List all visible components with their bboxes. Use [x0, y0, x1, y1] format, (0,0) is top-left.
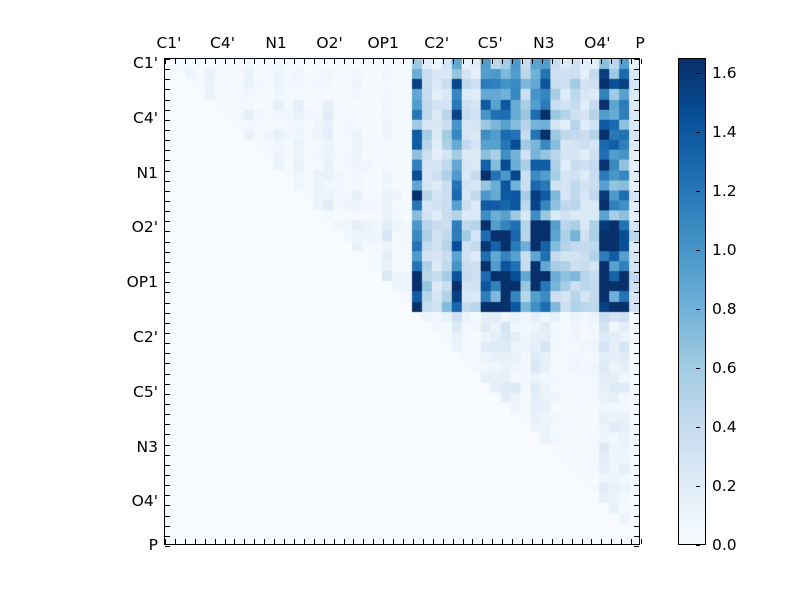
- colorbar-tick: [696, 73, 700, 74]
- axis-tick: [634, 353, 639, 354]
- axis-tick: [522, 59, 523, 64]
- axis-tick: [631, 539, 632, 544]
- axis-tick: [591, 539, 592, 544]
- axis-tick: [413, 59, 414, 64]
- colorbar-tick: [696, 132, 700, 133]
- axis-tick: [353, 539, 354, 544]
- colorbar-body: [678, 58, 706, 545]
- colorbar-tick: [696, 486, 700, 487]
- axis-tick: [634, 89, 639, 90]
- axis-tick: [634, 414, 639, 415]
- axis-tick: [324, 539, 325, 544]
- axis-tick: [225, 59, 226, 64]
- axis-tick: [314, 59, 315, 64]
- axis-tick: [264, 59, 265, 64]
- axis-tick: [634, 374, 639, 375]
- colorbar-tick-label-2: 0.4: [712, 418, 737, 436]
- axis-tick: [443, 539, 444, 544]
- colorbar-tick: [696, 545, 700, 546]
- axis-tick: [601, 539, 602, 544]
- axis-tick: [443, 59, 444, 64]
- colorbar-tick: [696, 368, 700, 369]
- axis-tick: [274, 539, 275, 544]
- axis-tick: [373, 539, 374, 544]
- axis-tick: [572, 539, 573, 544]
- axis-tick: [634, 343, 639, 344]
- axis-tick: [215, 539, 216, 544]
- axis-tick: [205, 539, 206, 544]
- axis-tick: [634, 394, 639, 395]
- axis-tick: [634, 495, 639, 496]
- axis-tick: [634, 526, 639, 527]
- y-tick-label-0: C1': [133, 54, 158, 72]
- y-tick-label-7: N3: [137, 438, 158, 456]
- heatmap-canvas: [165, 59, 639, 544]
- axis-tick: [165, 495, 170, 496]
- axis-tick: [165, 221, 170, 222]
- axis-tick: [165, 89, 170, 90]
- axis-tick: [304, 539, 305, 544]
- axis-tick: [165, 465, 170, 466]
- axis-tick: [634, 404, 639, 405]
- axis-tick: [482, 59, 483, 64]
- axis-tick: [373, 59, 374, 64]
- axis-tick: [512, 539, 513, 544]
- axis-tick: [634, 465, 639, 466]
- axis-tick: [314, 539, 315, 544]
- colorbar-tick: [696, 427, 700, 428]
- axis-tick: [631, 59, 632, 64]
- axis-tick: [195, 59, 196, 64]
- axis-tick: [634, 171, 639, 172]
- axis-tick: [165, 262, 170, 263]
- axis-tick: [634, 150, 639, 151]
- axis-tick: [634, 69, 639, 70]
- axis-tick: [165, 445, 170, 446]
- axis-tick: [165, 181, 170, 182]
- axis-tick: [165, 536, 170, 537]
- axis-tick: [225, 539, 226, 544]
- axis-tick: [165, 211, 170, 212]
- axis-tick: [634, 100, 639, 101]
- axis-tick: [634, 140, 639, 141]
- axis-tick: [634, 272, 639, 273]
- axis-tick: [353, 59, 354, 64]
- y-axis-labels: C1'C4'N1O2'OP1C2'C5'N3O4'P: [96, 0, 158, 600]
- axis-tick: [165, 313, 170, 314]
- y-tick-label-4: OP1: [127, 273, 158, 291]
- axis-tick: [165, 363, 170, 364]
- axis-tick: [634, 516, 639, 517]
- axis-tick: [165, 150, 170, 151]
- axis-tick: [634, 120, 639, 121]
- axis-tick: [254, 539, 255, 544]
- axis-tick: [165, 110, 170, 111]
- axis-tick: [634, 292, 639, 293]
- axis-tick: [334, 59, 335, 64]
- axis-tick: [463, 59, 464, 64]
- y-tick-label-8: O4': [132, 492, 158, 510]
- colorbar-tick: [696, 309, 700, 310]
- axis-tick: [562, 539, 563, 544]
- axis-tick: [634, 313, 639, 314]
- colorbar-tick-label-0: 0.0: [712, 536, 737, 554]
- axis-tick: [254, 59, 255, 64]
- axis-tick: [165, 201, 170, 202]
- axis-tick: [165, 343, 170, 344]
- axis-tick: [634, 201, 639, 202]
- axis-tick: [542, 59, 543, 64]
- axis-tick: [492, 539, 493, 544]
- axis-tick: [423, 59, 424, 64]
- axis-tick: [165, 516, 170, 517]
- axis-tick: [472, 539, 473, 544]
- axis-tick: [165, 424, 170, 425]
- axis-tick: [532, 59, 533, 64]
- axis-tick: [634, 181, 639, 182]
- axis-tick: [244, 539, 245, 544]
- axis-tick: [463, 539, 464, 544]
- x-tick-label-6: C5': [478, 34, 503, 52]
- axis-tick: [492, 59, 493, 64]
- x-tick-label-1: C4': [210, 34, 235, 52]
- axis-tick: [453, 539, 454, 544]
- axis-tick: [165, 546, 170, 547]
- axis-tick: [165, 130, 170, 131]
- axis-tick: [634, 160, 639, 161]
- axis-tick: [165, 140, 170, 141]
- axis-tick: [165, 79, 170, 80]
- axis-tick: [165, 384, 170, 385]
- axis-tick: [634, 424, 639, 425]
- heatmap-figure: C1'C4'N1O2'OP1C2'C5'N3O4'P C1'C4'N1O2'OP…: [0, 0, 800, 600]
- axis-tick: [634, 333, 639, 334]
- axis-tick: [185, 59, 186, 64]
- axis-tick: [562, 59, 563, 64]
- axis-tick: [264, 539, 265, 544]
- axis-tick: [165, 303, 170, 304]
- axis-tick: [634, 242, 639, 243]
- axis-tick: [621, 59, 622, 64]
- axis-tick: [185, 539, 186, 544]
- colorbar-gradient: [679, 59, 705, 544]
- axis-tick: [324, 59, 325, 64]
- axis-tick: [165, 539, 166, 544]
- axis-tick: [634, 191, 639, 192]
- axis-tick: [634, 79, 639, 80]
- x-tick-label-3: O2': [316, 34, 342, 52]
- axis-tick: [165, 475, 170, 476]
- axis-tick: [634, 323, 639, 324]
- colorbar-tick-label-1: 0.2: [712, 477, 737, 495]
- axis-tick: [165, 414, 170, 415]
- axis-tick: [165, 272, 170, 273]
- axis-tick: [572, 59, 573, 64]
- x-tick-label-9: P: [635, 34, 644, 52]
- axis-tick: [512, 59, 513, 64]
- axis-tick: [165, 323, 170, 324]
- axis-tick: [634, 262, 639, 263]
- axis-tick: [363, 59, 364, 64]
- axis-tick: [165, 434, 170, 435]
- colorbar-tick-label-8: 1.6: [712, 64, 737, 82]
- heatmap-plot-area[interactable]: [164, 58, 640, 545]
- colorbar-tick-label-3: 0.6: [712, 359, 737, 377]
- axis-tick: [634, 505, 639, 506]
- axis-tick: [403, 539, 404, 544]
- axis-tick: [433, 539, 434, 544]
- axis-tick: [165, 485, 170, 486]
- axis-tick: [393, 539, 394, 544]
- axis-tick: [294, 539, 295, 544]
- y-tick-label-2: N1: [137, 164, 158, 182]
- axis-tick: [244, 59, 245, 64]
- axis-tick: [634, 363, 639, 364]
- axis-tick: [175, 59, 176, 64]
- axis-tick: [634, 445, 639, 446]
- axis-tick: [502, 539, 503, 544]
- axis-tick: [413, 539, 414, 544]
- axis-tick: [552, 539, 553, 544]
- axis-tick: [641, 59, 642, 64]
- axis-tick: [383, 539, 384, 544]
- axis-tick: [175, 539, 176, 544]
- axis-tick: [472, 59, 473, 64]
- axis-tick: [274, 59, 275, 64]
- axis-tick: [552, 59, 553, 64]
- axis-tick: [165, 59, 170, 60]
- x-tick-label-8: O4': [584, 34, 610, 52]
- axis-tick: [634, 475, 639, 476]
- y-tick-label-1: C4': [133, 109, 158, 127]
- axis-tick: [522, 539, 523, 544]
- x-tick-label-5: C2': [424, 34, 449, 52]
- axis-tick: [423, 539, 424, 544]
- axis-tick: [165, 100, 170, 101]
- colorbar-tick-label-7: 1.4: [712, 123, 737, 141]
- axis-tick: [641, 539, 642, 544]
- colorbar-tick-label-5: 1.0: [712, 241, 737, 259]
- axis-tick: [634, 252, 639, 253]
- axis-tick: [165, 505, 170, 506]
- y-tick-label-9: P: [149, 536, 158, 554]
- axis-tick: [502, 59, 503, 64]
- axis-tick: [284, 59, 285, 64]
- axis-tick: [304, 59, 305, 64]
- axis-tick: [621, 539, 622, 544]
- axis-tick: [165, 191, 170, 192]
- y-tick-label-6: C5': [133, 383, 158, 401]
- axis-tick: [363, 539, 364, 544]
- axis-tick: [344, 539, 345, 544]
- axis-tick: [165, 171, 170, 172]
- colorbar-tick-label-6: 1.2: [712, 182, 737, 200]
- axis-tick: [634, 211, 639, 212]
- axis-tick: [165, 374, 170, 375]
- axis-tick: [634, 59, 639, 60]
- axis-tick: [165, 526, 170, 527]
- axis-tick: [294, 59, 295, 64]
- axis-tick: [165, 160, 170, 161]
- axis-tick: [634, 110, 639, 111]
- axis-tick: [634, 536, 639, 537]
- axis-tick: [611, 539, 612, 544]
- x-tick-label-4: OP1: [367, 34, 398, 52]
- axis-tick: [482, 539, 483, 544]
- axis-tick: [165, 242, 170, 243]
- axis-tick: [215, 59, 216, 64]
- axis-tick: [165, 282, 170, 283]
- axis-tick: [234, 59, 235, 64]
- axis-tick: [205, 59, 206, 64]
- axis-tick: [195, 539, 196, 544]
- axis-tick: [532, 539, 533, 544]
- axis-tick: [433, 59, 434, 64]
- axis-tick: [165, 394, 170, 395]
- axis-tick: [542, 539, 543, 544]
- axis-tick: [634, 434, 639, 435]
- axis-tick: [165, 120, 170, 121]
- axis-tick: [234, 539, 235, 544]
- x-tick-label-7: N3: [533, 34, 554, 52]
- axis-tick: [634, 130, 639, 131]
- y-tick-label-5: C2': [133, 328, 158, 346]
- x-tick-label-0: C1': [156, 34, 181, 52]
- colorbar-tick-label-4: 0.8: [712, 300, 737, 318]
- axis-tick: [634, 303, 639, 304]
- axis-tick: [591, 59, 592, 64]
- axis-tick: [393, 59, 394, 64]
- axis-tick: [453, 59, 454, 64]
- axis-tick: [611, 59, 612, 64]
- axis-tick: [284, 539, 285, 544]
- axis-tick: [165, 231, 170, 232]
- axis-tick: [634, 485, 639, 486]
- colorbar[interactable]: 0.00.20.40.60.81.01.21.41.6: [678, 58, 706, 545]
- axis-tick: [165, 404, 170, 405]
- colorbar-tick: [696, 250, 700, 251]
- axis-tick: [165, 455, 170, 456]
- axis-tick: [601, 59, 602, 64]
- axis-tick: [344, 59, 345, 64]
- axis-tick: [634, 231, 639, 232]
- axis-tick: [634, 221, 639, 222]
- axis-tick: [582, 539, 583, 544]
- axis-tick: [634, 282, 639, 283]
- axis-tick: [634, 384, 639, 385]
- axis-tick: [165, 353, 170, 354]
- axis-tick: [165, 252, 170, 253]
- axis-tick: [582, 59, 583, 64]
- axis-tick: [383, 59, 384, 64]
- axis-tick: [165, 292, 170, 293]
- x-tick-label-2: N1: [265, 34, 286, 52]
- axis-tick: [403, 59, 404, 64]
- axis-tick: [165, 69, 170, 70]
- y-tick-label-3: O2': [132, 218, 158, 236]
- colorbar-tick: [696, 191, 700, 192]
- axis-tick: [634, 546, 639, 547]
- axis-tick: [334, 539, 335, 544]
- axis-tick: [165, 333, 170, 334]
- axis-tick: [634, 455, 639, 456]
